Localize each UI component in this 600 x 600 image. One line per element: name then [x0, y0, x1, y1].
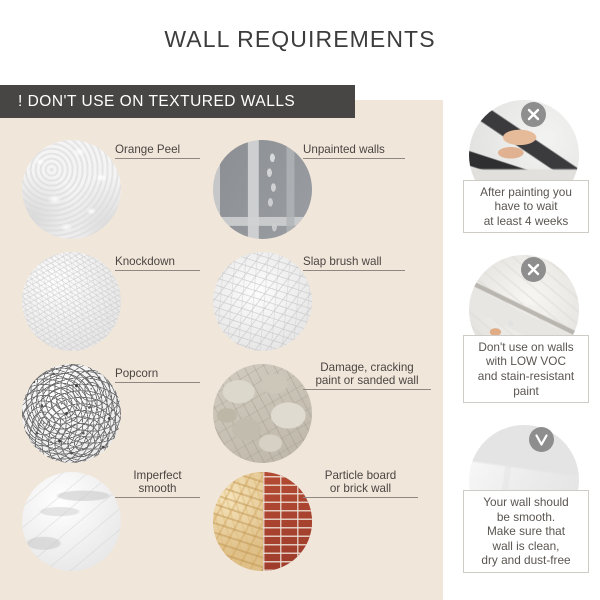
damaged-wall-texture-icon [213, 364, 312, 463]
page-title: WALL REQUIREMENTS [0, 26, 600, 53]
texture-label: Slap brush wall [303, 255, 405, 271]
texture-label: Unpainted walls [303, 143, 405, 159]
knockdown-texture-icon [22, 252, 121, 351]
texture-label: Damage, cracking paint or sanded wall [303, 361, 431, 390]
popcorn-texture-icon [22, 364, 121, 463]
texture-label: Particle board or brick wall [303, 469, 418, 498]
requirement-card-text: Don't use on walls with LOW VOC and stai… [463, 335, 589, 403]
requirement-card-text: After painting you have to wait at least… [463, 180, 589, 233]
slap-brush-texture-icon [213, 252, 312, 351]
texture-label: Popcorn [115, 367, 200, 383]
texture-grid: Orange Peel Unpainted walls Knockdown Sl… [0, 100, 443, 600]
texture-label: Knockdown [115, 255, 200, 271]
check-badge-icon [529, 427, 554, 452]
cross-badge-icon [521, 102, 546, 127]
infographic-canvas: WALL REQUIREMENTS ! DON'T USE ON TEXTURE… [0, 0, 600, 600]
cross-badge-icon [521, 257, 546, 282]
unpainted-wall-photo-icon [213, 140, 312, 239]
texture-label: Orange Peel [115, 143, 200, 159]
orange-peel-texture-icon [22, 140, 121, 239]
particle-board-half [213, 472, 263, 571]
imperfect-smooth-texture-icon [22, 472, 121, 571]
texture-label: Imperfect smooth [115, 469, 200, 498]
particle-board-brick-texture-icon [213, 472, 312, 571]
requirement-card-text: Your wall should be smooth. Make sure th… [463, 490, 589, 573]
